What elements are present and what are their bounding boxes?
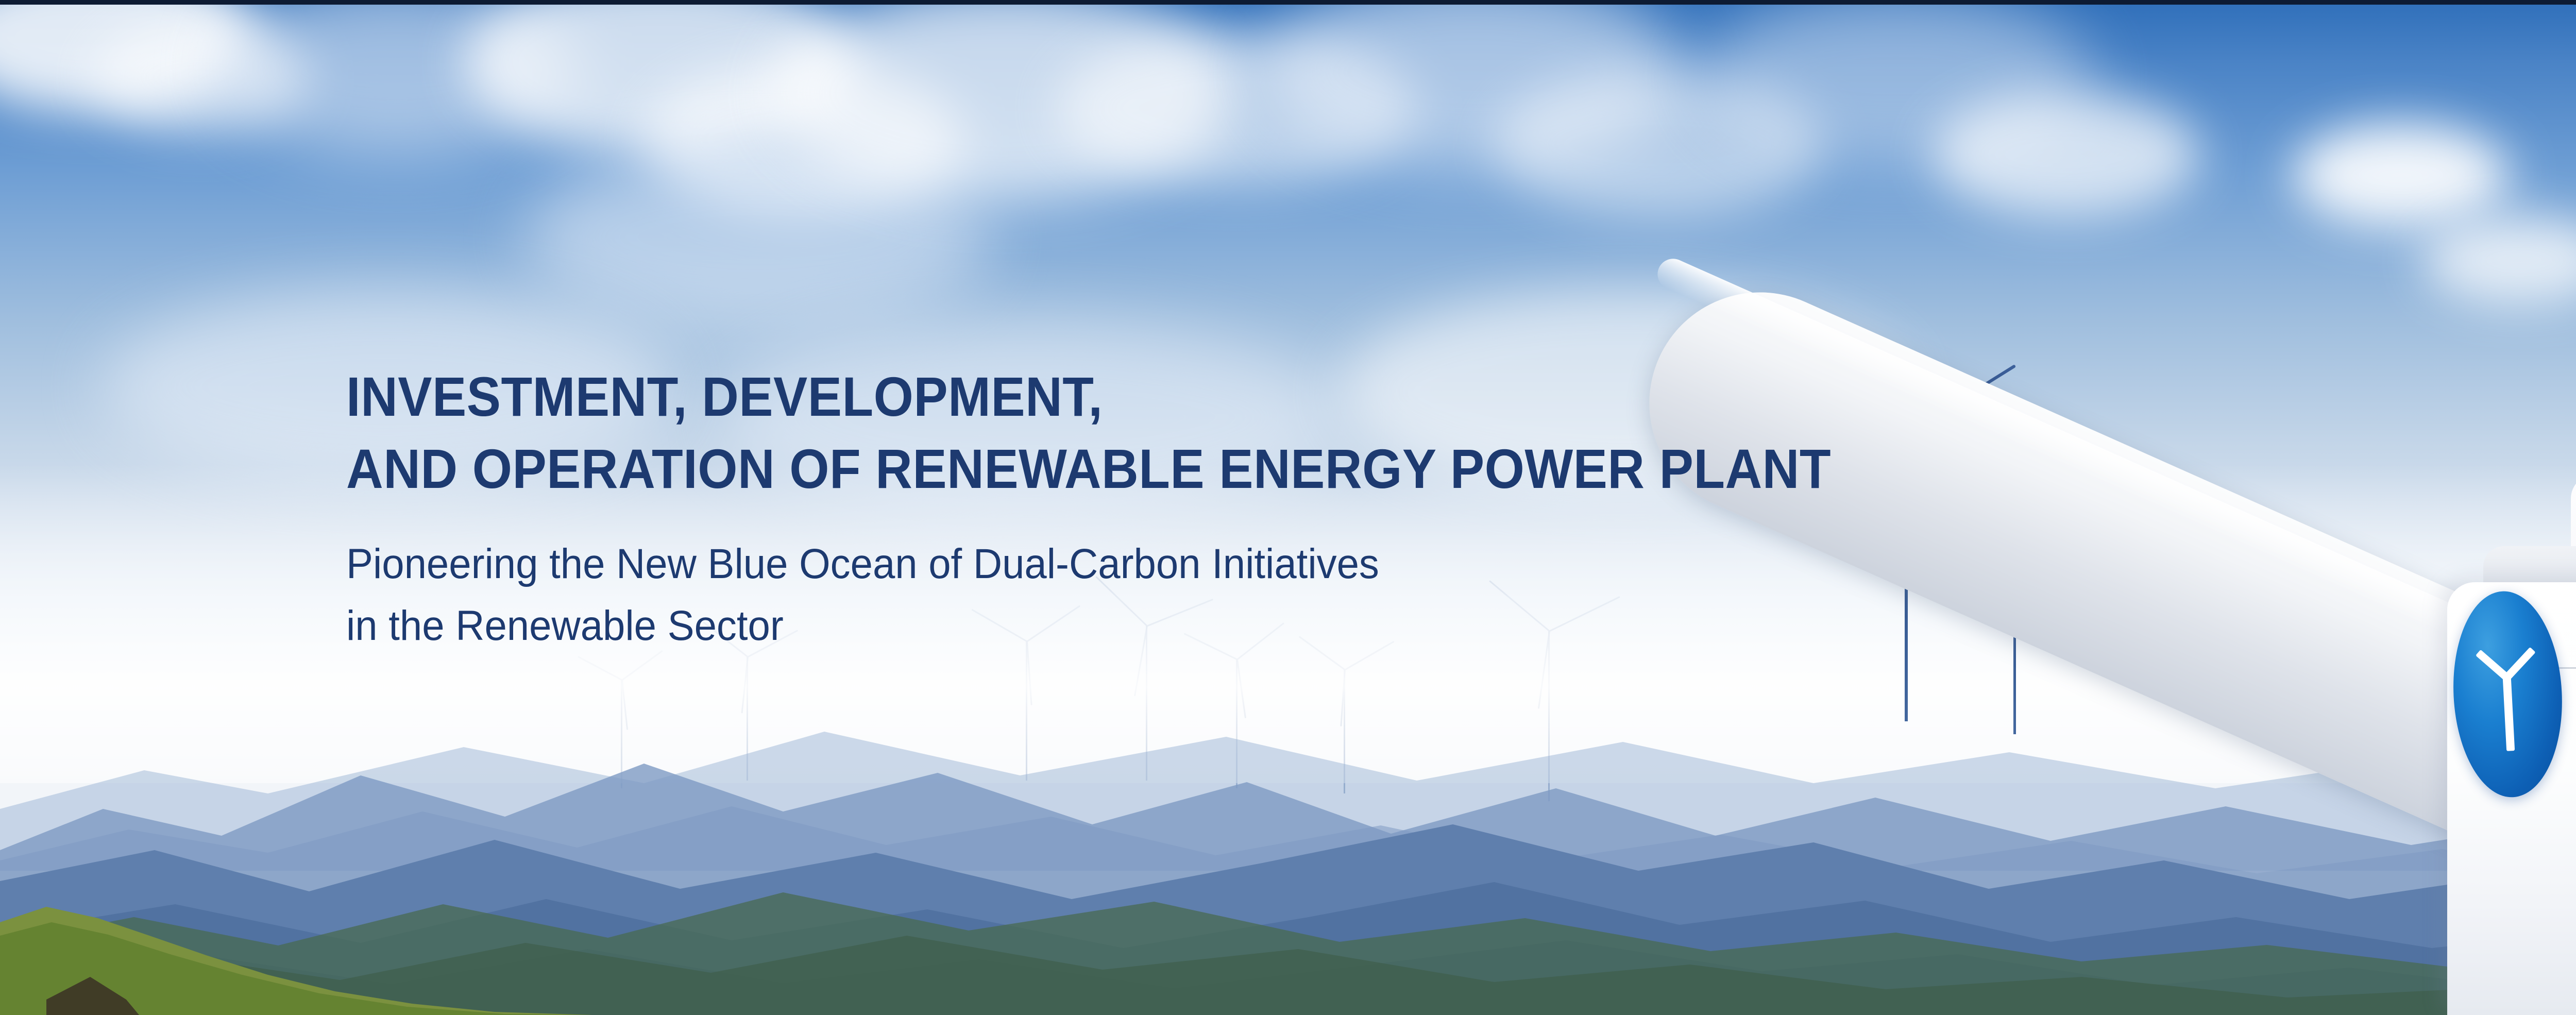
subheadline-line-2: in the Renewable Sector [346,595,1879,657]
banner-copy: INVESTMENT, DEVELOPMENT, AND OPERATION O… [346,361,1960,657]
top-border-strip [0,0,2576,5]
foreground-grass [0,845,592,1015]
windey-leaf-icon [2448,588,2567,800]
subheadline-line-1: Pioneering the New Blue Ocean of Dual-Ca… [346,533,1879,596]
windey-logo: 运达风电 WINDEY [2448,570,2576,800]
wind-turbine-assembly: 运达风电 WINDEY [1989,0,2576,1015]
hero-banner: 运达风电 WINDEY INVESTMENT, DEVELOPMENT, AND… [0,0,2576,1015]
headline-line-2: AND OPERATION OF RENEWABLE ENERGY POWER … [346,433,1831,505]
headline-line-1: INVESTMENT, DEVELOPMENT, [346,361,1831,433]
